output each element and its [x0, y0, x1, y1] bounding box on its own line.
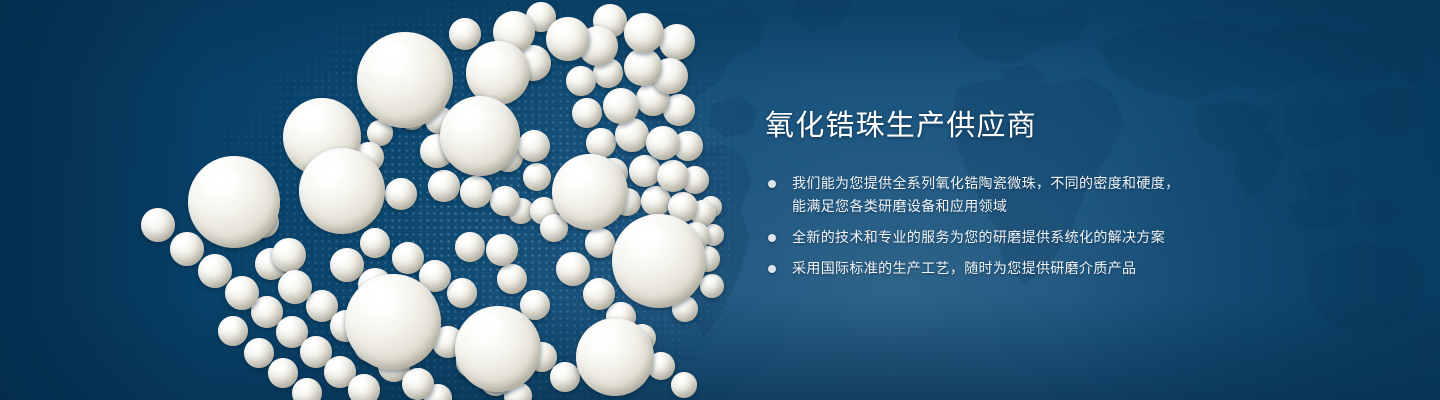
list-item: 采用国际标准的生产工艺，随时为您提供研磨介质产品	[765, 257, 1385, 280]
list-item: 我们能为您提供全系列氧化锆陶瓷微珠，不同的密度和硬度， 能满足您各类研磨设备和应…	[765, 172, 1385, 218]
list-item-line2: 能满足您各类研磨设备和应用领域	[792, 195, 1385, 218]
page-title: 氧化锆珠生产供应商	[765, 108, 1385, 144]
feature-bullet-list: 我们能为您提供全系列氧化锆陶瓷微珠，不同的密度和硬度， 能满足您各类研磨设备和应…	[765, 172, 1385, 280]
list-item-line1: 采用国际标准的生产工艺，随时为您提供研磨介质产品	[792, 257, 1385, 280]
list-item-line1: 我们能为您提供全系列氧化锆陶瓷微珠，不同的密度和硬度，	[792, 172, 1385, 195]
hero-banner: 氧化锆珠生产供应商 我们能为您提供全系列氧化锆陶瓷微珠，不同的密度和硬度， 能满…	[0, 0, 1440, 400]
bullet-dot-icon	[768, 265, 776, 273]
banner-content: 氧化锆珠生产供应商 我们能为您提供全系列氧化锆陶瓷微珠，不同的密度和硬度， 能满…	[765, 108, 1385, 280]
list-item-line1: 全新的技术和专业的服务为您的研磨提供系统化的解决方案	[792, 226, 1385, 249]
bullet-dot-icon	[768, 180, 776, 188]
list-item: 全新的技术和专业的服务为您的研磨提供系统化的解决方案	[765, 226, 1385, 249]
bullet-dot-icon	[768, 234, 776, 242]
